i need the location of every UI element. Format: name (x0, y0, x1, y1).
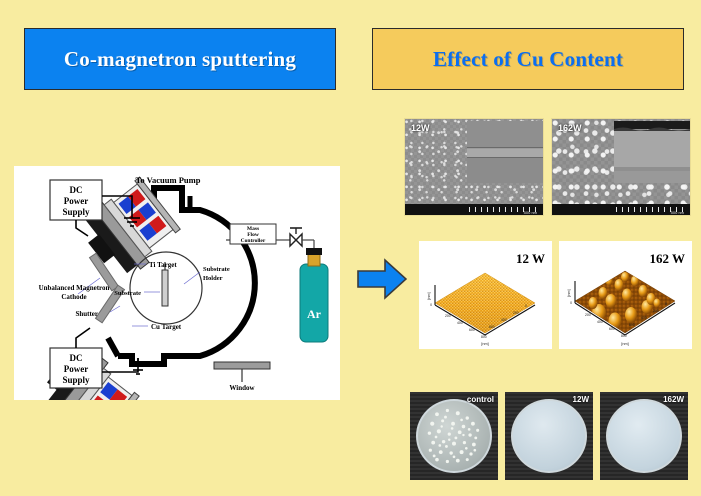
sem-tag-12w: 12W (411, 123, 430, 133)
sem-scalebar-12w: 500 nm (405, 204, 543, 215)
petri-tag-162w: 162W (663, 395, 684, 404)
label-unbalanced-magnetron-cathode-line2: Cathode (61, 293, 86, 301)
label-dc-power-supply-bottom-line2: Power (64, 364, 89, 374)
svg-text:400: 400 (597, 320, 603, 324)
banner-right-label: Effect of Cu Content (433, 47, 623, 72)
afm-power-label-162w: 162 W (649, 251, 685, 267)
svg-text:600: 600 (489, 325, 495, 329)
svg-text:400: 400 (641, 316, 647, 320)
label-ti-target: Ti Target (149, 261, 177, 269)
label-mass-flow-controller-line3: Controller (241, 238, 266, 244)
svg-text:400: 400 (501, 318, 507, 322)
svg-text:0: 0 (665, 302, 667, 306)
afm-power-label-12w: 12 W (516, 251, 545, 267)
petri-plate-12w (511, 399, 587, 473)
label-dc-power-supply-top-line3: Supply (62, 207, 90, 217)
petri-dish-control: control (410, 392, 498, 480)
petri-plate-162w (606, 399, 682, 473)
slide-canvas: Co-magnetron sputtering Effect of Cu Con… (0, 0, 701, 496)
svg-text:600: 600 (629, 323, 635, 327)
svg-text:800: 800 (481, 335, 487, 339)
svg-text:600: 600 (609, 327, 615, 331)
label-dc-power-supply-top-line2: Power (64, 196, 89, 206)
label-dc-power-supply-bottom-line1: DC (70, 353, 83, 363)
svg-text:600: 600 (469, 328, 475, 332)
sem-cross-section-inset-12w (467, 121, 543, 183)
afm-image-162w: 200 400 600 800 0 200 400 600 [nm] [nm] … (559, 241, 692, 349)
svg-text:200: 200 (513, 311, 519, 315)
afm-image-12w: 200 400 600 800 0 200 400 600 [nm] [nm] … (419, 241, 552, 349)
sem-cross-section-inset-162w (614, 121, 690, 183)
label-substrate-holder-line1: Substrate (203, 266, 230, 273)
afm-z-axis-label-162w: [nm] (567, 289, 571, 296)
right-arrow-icon (357, 255, 407, 303)
svg-text:200: 200 (585, 313, 591, 317)
label-dc-power-supply-top-line1: DC (70, 185, 83, 195)
svg-text:0: 0 (525, 304, 527, 308)
label-shutter: Shutter (75, 310, 98, 318)
label-substrate-holder-line2: Holder (203, 275, 223, 282)
banner-effect-of-cu-content: Effect of Cu Content (372, 28, 684, 90)
afm-x-axis-label-162w: [nm] (621, 342, 628, 346)
banner-co-magnetron-sputtering: Co-magnetron sputtering (24, 28, 336, 90)
afm-z-axis-label-12w: [nm] (427, 292, 431, 299)
label-to-vacuum-pump: To Vacuum Pump (136, 175, 201, 185)
svg-text:0: 0 (430, 303, 432, 307)
banner-left-label: Co-magnetron sputtering (64, 47, 296, 72)
sem-tag-162w: 162W (558, 123, 582, 133)
petri-dish-162w: 162W (600, 392, 688, 480)
label-cu-target: Cu Target (151, 323, 182, 331)
svg-text:400: 400 (457, 321, 463, 325)
label-window: Window (229, 384, 255, 392)
sem-scale-label-162w: 500 nm (671, 210, 684, 215)
afm-x-axis-label-12w: [nm] (481, 342, 488, 346)
sem-image-162w: 500 nm 162W (551, 118, 691, 216)
label-dc-power-supply-bottom-line3: Supply (62, 375, 90, 385)
petri-colonies-control (418, 401, 490, 471)
label-substrate: Substrate (114, 290, 141, 297)
sem-scale-label-12w: 500 nm (524, 210, 537, 215)
svg-text:200: 200 (445, 314, 451, 318)
label-unbalanced-magnetron-cathode-line1: Unbalanced Magnetron (39, 284, 110, 292)
sputtering-system-schematic: DC Power Supply DC Power Supply To Vacuu… (14, 166, 340, 400)
svg-text:800: 800 (621, 334, 627, 338)
svg-text:0: 0 (570, 301, 572, 305)
petri-dish-12w: 12W (505, 392, 593, 480)
petri-tag-12w: 12W (573, 395, 589, 404)
sem-image-12w: 500 nm 12W (404, 118, 544, 216)
sem-scalebar-162w: 500 nm (552, 204, 690, 215)
petri-tag-control: control (467, 395, 494, 404)
label-ar-cylinder: Ar (307, 307, 322, 321)
svg-text:200: 200 (653, 309, 659, 313)
petri-plate-control (416, 399, 492, 473)
